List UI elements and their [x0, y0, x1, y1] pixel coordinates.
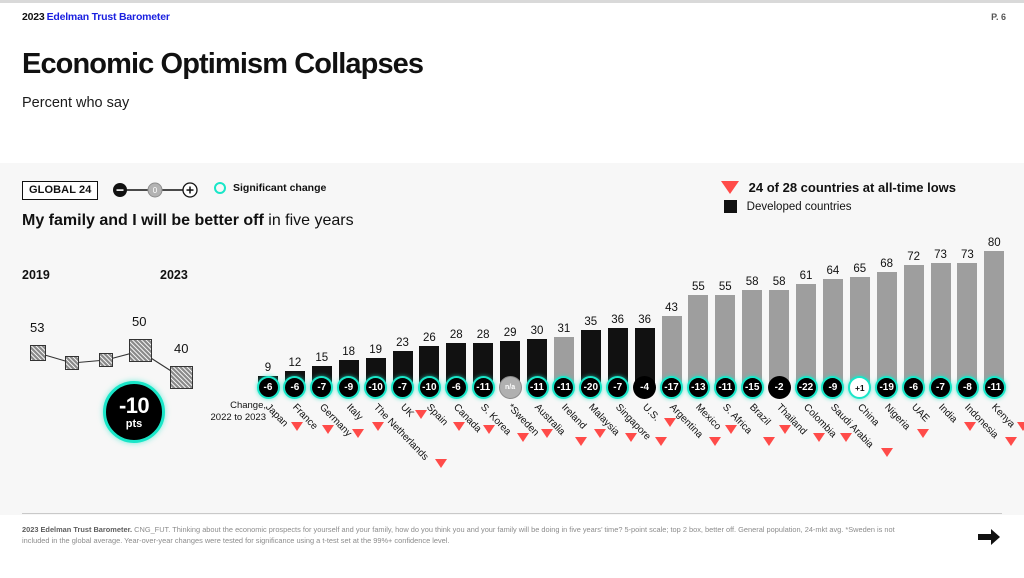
bar-value-label: 28: [450, 329, 463, 341]
change-badge: -4: [633, 376, 656, 399]
change-badge: -13: [687, 376, 710, 399]
bar-value-label: 23: [396, 337, 409, 349]
change-badge: -7: [929, 376, 952, 399]
bar: [931, 263, 951, 392]
bar: [904, 265, 924, 392]
bar-value-label: 73: [934, 249, 947, 261]
change-badge: -6: [257, 376, 280, 399]
bar-value-label: 15: [315, 352, 328, 364]
all-time-low-triangle-icon: [664, 418, 676, 427]
all-time-low-triangle-icon: [964, 422, 976, 431]
all-time-low-triangle-icon: [725, 425, 737, 434]
all-time-low-triangle-icon: [517, 433, 529, 442]
change-badge: -11: [526, 376, 549, 399]
all-time-low-triangle-icon: [881, 448, 893, 457]
trend-value-2023: 40: [174, 341, 188, 356]
question-bold: My family and I will be better off: [22, 212, 264, 229]
bar-value-label: 61: [800, 270, 813, 282]
all-time-low-triangle-icon: [372, 422, 384, 431]
legend-row-all-time-lows: 24 of 28 countries at all-time lows: [721, 180, 956, 195]
change-badge: -10: [364, 376, 387, 399]
all-time-low-triangle-icon: [1005, 437, 1017, 446]
bar: [957, 263, 977, 392]
brand-lockup: 2023Edelman Trust Barometer: [22, 11, 170, 23]
change-badge: -15: [741, 376, 764, 399]
change-badge: -11: [714, 376, 737, 399]
change-badge: -2: [768, 376, 791, 399]
global-24-badge[interactable]: GLOBAL 24: [22, 181, 98, 200]
all-time-low-triangle-icon: [575, 437, 587, 446]
bar-value-label: 26: [423, 332, 436, 344]
all-time-low-triangle-icon: [291, 422, 303, 431]
all-time-low-triangle-icon: [1017, 422, 1024, 431]
change-badge: -10: [418, 376, 441, 399]
change-badge: -6: [902, 376, 925, 399]
all-time-low-triangle-icon: [763, 437, 775, 446]
bar-value-label: 35: [584, 316, 597, 328]
all-time-low-triangle-icon: [322, 425, 334, 434]
all-time-low-triangle-icon: [917, 429, 929, 438]
bar-value-label: 55: [692, 281, 705, 293]
footnote: 2023 Edelman Trust Barometer. CNG_FUT. T…: [22, 524, 902, 546]
all-time-low-triangle-icon: [453, 422, 465, 431]
change-badge: -7: [391, 376, 414, 399]
all-time-low-triangle-icon: [709, 437, 721, 446]
bar-value-label: 58: [746, 276, 759, 288]
bar-value-label: 55: [719, 281, 732, 293]
bar: [850, 277, 870, 392]
all-time-low-triangle-icon: [483, 425, 495, 434]
change-badge: n/a: [499, 376, 522, 399]
significant-change-ring-icon: [214, 182, 226, 194]
trend-marker: [129, 339, 152, 362]
change-badge: -22: [795, 376, 818, 399]
change-badge: -17: [660, 376, 683, 399]
legend-all-time-lows-label: 24 of 28 countries at all-time lows: [749, 180, 956, 195]
bar: [984, 251, 1004, 392]
bar-value-label: 58: [773, 276, 786, 288]
bar-value-label: 65: [853, 263, 866, 275]
change-callout-unit: pts: [126, 419, 143, 430]
top-rule: [0, 0, 1024, 3]
bar-value-label: 72: [907, 251, 920, 263]
bar-value-label: 80: [988, 237, 1001, 249]
bar-value-label: 29: [504, 327, 517, 339]
bar-value-label: 31: [557, 323, 570, 335]
bar-value-label: 30: [531, 325, 544, 337]
all-time-low-triangle-icon: [594, 429, 606, 438]
bar-value-label: 19: [369, 344, 382, 356]
trend-marker: [30, 345, 46, 361]
all-time-low-triangle-icon: [840, 433, 852, 442]
bar: [877, 272, 897, 392]
change-scale-indicator: 0: [110, 182, 200, 198]
footnote-text: CNG_FUT. Thinking about the economic pro…: [22, 525, 895, 545]
bar-value-label: 18: [342, 346, 355, 358]
all-time-low-triangle-icon: [813, 433, 825, 442]
trend-value-2022: 50: [132, 314, 146, 329]
trend-marker: [99, 353, 113, 367]
significant-change-label: Significant change: [233, 182, 326, 194]
page-title: Economic Optimism Collapses: [22, 48, 423, 81]
change-badge: -11: [983, 376, 1006, 399]
significant-change-legend: Significant change: [214, 182, 326, 194]
trend-marker: [65, 356, 79, 370]
down-triangle-icon: [721, 181, 739, 194]
bar-value-label: 68: [880, 258, 893, 270]
next-slide-arrow-icon[interactable]: [974, 522, 1004, 552]
bar-value-label: 43: [665, 302, 678, 314]
all-time-low-triangle-icon: [352, 429, 364, 438]
bar-value-label: 28: [477, 329, 490, 341]
bar-value-label: 36: [611, 314, 624, 326]
change-callout-bubble: -10 pts: [103, 381, 165, 443]
bar-value-label: 73: [961, 249, 974, 261]
brand-year: 2023: [22, 11, 45, 23]
svg-text:0: 0: [153, 186, 158, 195]
change-badge: -11: [472, 376, 495, 399]
brand-name: Edelman Trust Barometer: [47, 11, 170, 23]
all-time-low-triangle-icon: [625, 433, 637, 442]
footnote-source: 2023 Edelman Trust Barometer.: [22, 525, 132, 534]
bar-chart: 9-6Japan12-6France15-7Germany18-9Italy19…: [255, 206, 1015, 416]
change-badge: -8: [956, 376, 979, 399]
change-callout-value: -10: [119, 395, 149, 417]
bar-value-label: 64: [826, 265, 839, 277]
all-time-low-triangle-icon: [779, 425, 791, 434]
bar-value-label: 12: [288, 357, 301, 369]
all-time-low-triangle-icon: [541, 429, 553, 438]
trend-marker: [170, 366, 193, 389]
bar-value-label: 36: [638, 314, 651, 326]
footer-divider: [22, 513, 1002, 514]
all-time-low-triangle-icon: [435, 459, 447, 468]
trend-value-2019: 53: [30, 320, 44, 335]
change-badge: -6: [445, 376, 468, 399]
page-subtitle: Percent who say: [22, 95, 129, 111]
all-time-low-triangle-icon: [655, 437, 667, 446]
bar-value-label: 9: [265, 362, 271, 374]
page-number: P. 6: [991, 12, 1006, 22]
